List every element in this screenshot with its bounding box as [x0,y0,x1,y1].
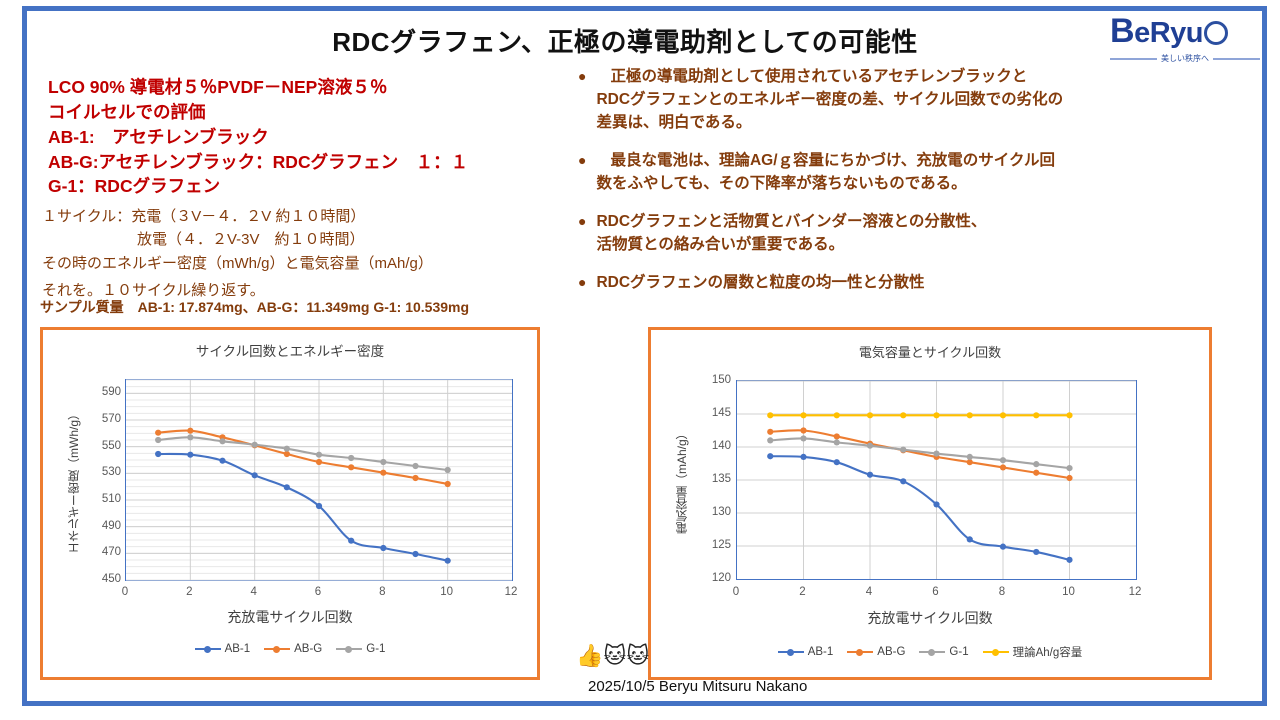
series-marker-G-1 [1000,457,1006,463]
series-marker-AB-G [967,459,973,465]
ytick-510: 510 [102,493,121,505]
chart-title-capacity: 電気容量とサイクル回数 [651,342,1209,361]
series-marker-AB-1 [187,452,193,458]
reaction-emoji-row: 👍🐱🐱 [576,645,649,667]
series-marker-AB-G [800,427,806,433]
bullet-3-line-0: RDCグラフェンの層数と粒度の均一性と分散性 [596,272,1178,295]
series-marker-AB-1 [1000,544,1006,550]
chart-panel-capacity: 電気容量とサイクル回数 電気容量（mAh/g） 1201251301351401… [648,327,1212,680]
bullet-dot-icon: ● [578,66,586,135]
series-marker-G-1 [867,443,873,449]
ytick-125: 125 [712,539,731,551]
series-marker-G-1 [900,447,906,453]
ytick-530: 530 [102,466,121,478]
xtick-4: 4 [250,586,256,598]
series-marker-AB-1 [284,484,290,490]
bullet-item-0: ●正極の導電助剤として使用されているアセチレンブラックとRDCグラフェンとのエネ… [578,66,1178,135]
formulation-spec-block: LCO 90% 導電材５％PVDF－NEP溶液５％コイルセルでの評価AB-1: … [48,75,568,199]
logo-wordmark: BeRyu [1110,14,1260,48]
logo-letter-b: B [1110,12,1134,50]
legend-label: G-1 [366,643,385,655]
series-marker-AB-G [445,481,451,487]
bullet-1-line-1: 数をふやしても、その下降率が落ちないものである。 [596,173,1178,196]
series-marker-AB-1 [967,536,973,542]
chart-ylabel-capacity: 電気容量（mAh/g） [673,388,690,574]
xtick-8: 8 [999,586,1005,598]
legend-swatch-icon [778,647,804,657]
spec-line-3: AB-G:アセチレンブラック：RDCグラフェン １：１ [48,150,568,175]
legend-item-AB-1[interactable]: AB-1 [778,646,834,658]
logo-rule-left [1110,58,1157,60]
series-marker-G-1 [933,451,939,457]
legend-swatch-icon [983,647,1009,657]
cycle-protocol-notes: １サイクル：充電（３V－４．２V 約１０時間）放電（４．２V-3V 約１０時間）… [42,206,572,302]
legend-swatch-icon [336,644,362,654]
series-marker-G-1 [834,439,840,445]
legend-label: 理論Ah/g容量 [1013,644,1083,660]
series-marker-理論Ah/g容量 [800,412,806,418]
ytick-590: 590 [102,386,121,398]
bullet-text: RDCグラフェンの層数と粒度の均一性と分散性 [596,272,1178,295]
slide-border-top [22,6,1267,11]
ytick-130: 130 [712,506,731,518]
bullet-1-line-0: 最良な電池は、理論AG/ｇ容量にちかづけ、充放電のサイクル回 [596,150,1178,173]
series-marker-AB-1 [933,501,939,507]
bullet-dot-icon: ● [578,150,586,196]
ytick-470: 470 [102,546,121,558]
protocol-line-2: その時のエネルギー密度（mWh/g）と電気容量（mAh/g） [42,253,572,276]
legend-item-AB-1[interactable]: AB-1 [195,643,251,655]
series-line-AB-G [770,430,1069,478]
legend-swatch-icon [264,644,290,654]
chart-yticks-capacity: 120125130135140145150 [695,380,731,580]
plot-area-energy-density [125,379,513,581]
spec-line-4: G-1：RDCグラフェン [48,174,568,199]
legend-item-AB-G[interactable]: AB-G [847,646,905,658]
ytick-450: 450 [102,573,121,585]
series-marker-理論Ah/g容量 [767,412,773,418]
series-marker-G-1 [1066,465,1072,471]
chart-svg-capacity [737,381,1136,579]
series-marker-G-1 [316,452,322,458]
legend-item-G-1[interactable]: G-1 [919,646,968,658]
chart-xticks-capacity: 024681012 [736,586,1137,604]
series-marker-G-1 [380,459,386,465]
series-marker-AB-1 [445,558,451,564]
legend-label: AB-G [877,646,905,658]
series-marker-AB-G [1066,475,1072,481]
series-marker-G-1 [412,463,418,469]
series-marker-G-1 [219,438,225,444]
slide-border-left [22,6,27,706]
protocol-line-1: 放電（４．２V-3V 約１０時間） [42,229,572,252]
page-title: RDCグラフェン、正極の導電助剤としての可能性 [260,22,990,59]
xtick-10: 10 [440,586,453,598]
bullet-text: RDCグラフェンと活物質とバインダー溶液との分散性、活物質との絡み合いが重要であ… [596,211,1178,257]
legend-item-G-1[interactable]: G-1 [336,643,385,655]
xtick-4: 4 [866,586,872,598]
legend-label: G-1 [949,646,968,658]
spec-line-0: LCO 90% 導電材５％PVDF－NEP溶液５％ [48,75,568,100]
bullet-2-line-0: RDCグラフェンと活物質とバインダー溶液との分散性、 [596,211,1178,234]
ytick-550: 550 [102,440,121,452]
logo-tagline-row: 美しい秩序へ [1110,53,1260,64]
series-marker-G-1 [284,446,290,452]
series-marker-理論Ah/g容量 [1000,412,1006,418]
series-marker-G-1 [1033,461,1039,467]
logo-tagline: 美しい秩序へ [1161,53,1209,64]
series-marker-AB-1 [348,538,354,544]
xtick-6: 6 [315,586,321,598]
chart-xticks-energy-density: 024681012 [125,586,513,604]
series-marker-AB-1 [1066,557,1072,563]
series-marker-AB-G [1000,464,1006,470]
bullet-item-2: ●RDCグラフェンと活物質とバインダー溶液との分散性、活物質との絡み合いが重要で… [578,211,1178,257]
ytick-120: 120 [712,572,731,584]
legend-label: AB-G [294,643,322,655]
series-marker-AB-1 [219,458,225,464]
beryu-logo: BeRyu 美しい秩序へ [1110,14,1260,72]
bullet-2-line-1: 活物質との絡み合いが重要である。 [596,234,1178,257]
chart-ylabel-energy-density: エネルギー密度（mWh/g） [65,386,82,576]
slide-canvas: RDCグラフェン、正極の導電助剤としての可能性 BeRyu 美しい秩序へ LCO… [0,0,1280,720]
logo-letter-rest: eRyu [1134,17,1203,49]
legend-swatch-icon [847,647,873,657]
sample-mass-line: サンプル質量 AB-1: 17.874mg、AB-G：11.349mg G-1:… [40,297,580,317]
spec-line-1: コイルセルでの評価 [48,100,568,125]
chart-yticks-energy-density: 450470490510530550570590 [85,379,121,581]
ytick-570: 570 [102,413,121,425]
xtick-12: 12 [505,586,518,598]
xtick-0: 0 [733,586,739,598]
series-marker-G-1 [967,454,973,460]
series-marker-理論Ah/g容量 [900,412,906,418]
legend-item-理論Ah/g容量[interactable]: 理論Ah/g容量 [983,644,1083,660]
xtick-10: 10 [1062,586,1075,598]
series-marker-AB-1 [155,451,161,457]
ytick-150: 150 [712,374,731,386]
legend-label: AB-1 [808,646,834,658]
xtick-6: 6 [932,586,938,598]
bullet-dot-icon: ● [578,211,586,257]
series-marker-AB-G [412,475,418,481]
series-marker-理論Ah/g容量 [867,412,873,418]
bullet-0-line-1: RDCグラフェンとのエネルギー密度の差、サイクル回数での劣化の [596,89,1178,112]
chart-xlabel-capacity: 充放電サイクル回数 [651,608,1209,628]
protocol-line-0: １サイクル：充電（３V－４．２V 約１０時間） [42,206,572,229]
series-marker-AB-G [316,459,322,465]
xtick-12: 12 [1129,586,1142,598]
bullet-dot-icon: ● [578,272,586,295]
ytick-145: 145 [712,407,731,419]
conclusion-bullet-list: ●正極の導電助剤として使用されているアセチレンブラックとRDCグラフェンとのエネ… [578,66,1178,310]
legend-item-AB-G[interactable]: AB-G [264,643,322,655]
series-marker-G-1 [252,442,258,448]
chart-legend-capacity: AB-1AB-GG-1理論Ah/g容量 [651,644,1209,660]
series-marker-G-1 [800,435,806,441]
series-marker-理論Ah/g容量 [933,412,939,418]
series-marker-理論Ah/g容量 [1033,412,1039,418]
bullet-0-line-2: 差異は、明白である。 [596,112,1178,135]
series-marker-AB-G [348,464,354,470]
series-marker-AB-G [187,428,193,434]
legend-swatch-icon [919,647,945,657]
series-marker-AB-1 [834,459,840,465]
logo-circle-icon [1204,21,1228,45]
legend-label: AB-1 [225,643,251,655]
plot-area-capacity [736,380,1137,580]
series-marker-AB-1 [900,478,906,484]
series-line-AB-1 [158,454,448,561]
series-marker-G-1 [767,437,773,443]
footer-credit: 2025/10/5 Beryu Mitsuru Nakano [588,678,807,695]
chart-legend-energy-density: AB-1AB-GG-1 [43,643,537,655]
bullet-text: 正極の導電助剤として使用されているアセチレンブラックとRDCグラフェンとのエネル… [596,66,1178,135]
bullet-item-3: ●RDCグラフェンの層数と粒度の均一性と分散性 [578,272,1178,295]
chart-panel-energy-density: サイクル回数とエネルギー密度 エネルギー密度（mWh/g） 4504704905… [40,327,540,680]
chart-xlabel-energy-density: 充放電サイクル回数 [43,607,537,627]
series-marker-G-1 [155,437,161,443]
chart-title-energy-density: サイクル回数とエネルギー密度 [43,340,537,360]
slide-border-bottom [22,701,1267,706]
series-marker-AB-G [155,430,161,436]
series-marker-AB-G [380,470,386,476]
series-marker-AB-1 [800,454,806,460]
series-marker-AB-1 [1033,549,1039,555]
series-marker-AB-G [767,429,773,435]
series-marker-理論Ah/g容量 [1066,412,1072,418]
series-marker-G-1 [187,434,193,440]
series-marker-AB-1 [316,503,322,509]
ytick-140: 140 [712,440,731,452]
logo-rule-right [1213,58,1260,60]
series-marker-AB-G [1033,470,1039,476]
xtick-2: 2 [186,586,192,598]
series-marker-G-1 [348,455,354,461]
series-marker-AB-1 [252,472,258,478]
series-marker-AB-1 [767,453,773,459]
ytick-135: 135 [712,473,731,485]
xtick-2: 2 [799,586,805,598]
series-marker-理論Ah/g容量 [834,412,840,418]
slide-border-right [1262,6,1267,706]
series-marker-AB-1 [867,472,873,478]
xtick-0: 0 [122,586,128,598]
spec-line-2: AB-1: アセチレンブラック [48,125,568,150]
series-marker-AB-1 [412,551,418,557]
series-marker-AB-G [284,451,290,457]
series-marker-AB-1 [380,545,386,551]
series-marker-理論Ah/g容量 [967,412,973,418]
chart-svg-energy-density [126,380,512,580]
bullet-item-1: ●最良な電池は、理論AG/ｇ容量にちかづけ、充放電のサイクル回数をふやしても、そ… [578,150,1178,196]
bullet-text: 最良な電池は、理論AG/ｇ容量にちかづけ、充放電のサイクル回数をふやしても、その… [596,150,1178,196]
bullet-0-line-0: 正極の導電助剤として使用されているアセチレンブラックと [596,66,1178,89]
xtick-8: 8 [379,586,385,598]
series-marker-G-1 [445,467,451,473]
legend-swatch-icon [195,644,221,654]
ytick-490: 490 [102,520,121,532]
series-marker-AB-G [834,433,840,439]
